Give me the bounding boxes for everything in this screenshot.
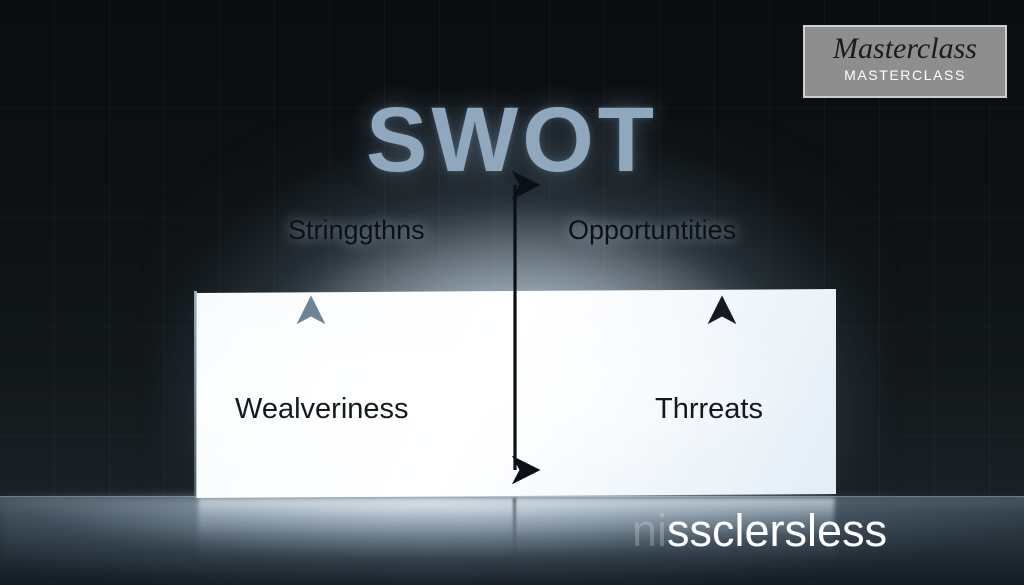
watermark-text: nissclersless: [632, 505, 887, 557]
quadrant-label-opportunities: Opportuntities: [568, 215, 736, 246]
logo-script-text: Masterclass: [805, 32, 1005, 66]
quadrant-label-strengths: Stringgthns: [288, 215, 425, 246]
swot-diagram-scene: SWOT Strin: [0, 0, 1024, 585]
quadrant-label-threats: Thrreats: [655, 393, 763, 426]
watermark-bright-text: ssclersless: [667, 505, 887, 556]
quadrant-label-weaknesses: Wealveriness: [235, 393, 409, 426]
logo-caps-text: MASTERCLASS: [805, 66, 1005, 84]
masterclass-logo-plate: Masterclass MASTERCLASS: [803, 25, 1007, 98]
watermark-faded-prefix: ni: [632, 505, 667, 556]
